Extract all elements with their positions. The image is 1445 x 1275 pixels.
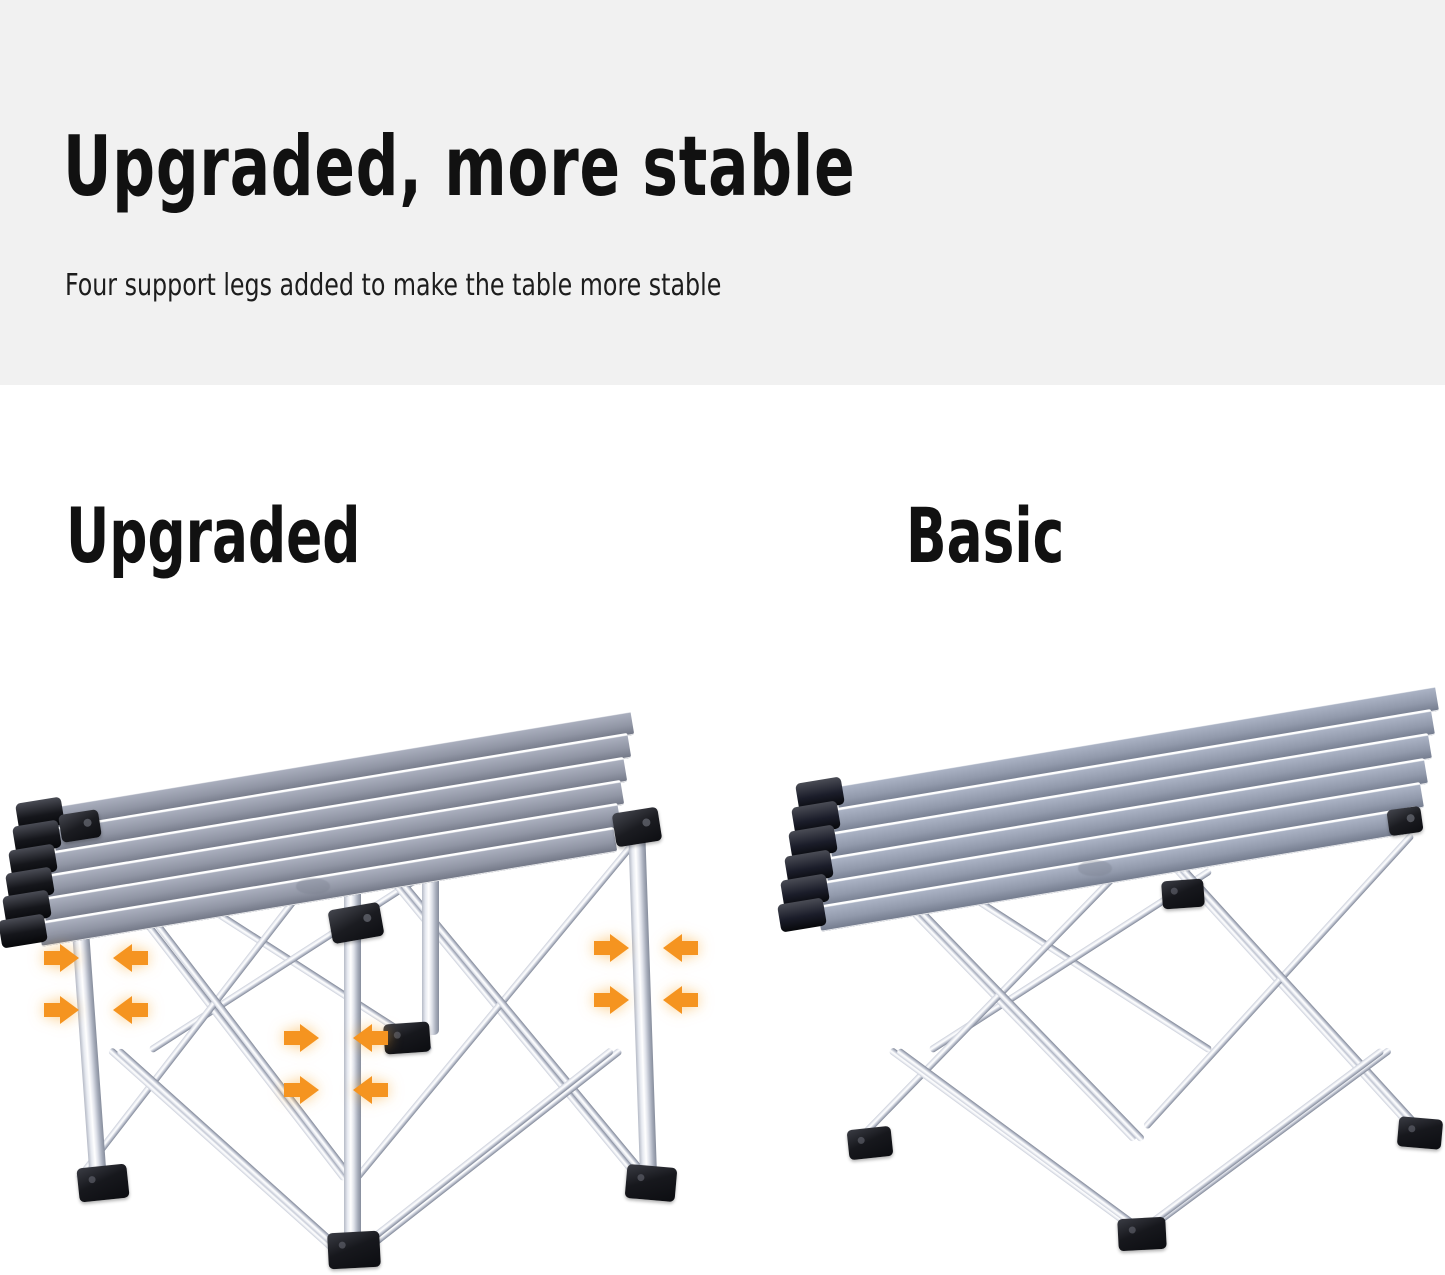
arrow-cluster-left (42, 942, 150, 1026)
pressure-arrow-icon (282, 1074, 322, 1106)
leg-foot (625, 1164, 678, 1202)
pressure-arrow-icon (282, 1022, 322, 1054)
leg-foot (1161, 879, 1205, 910)
pressure-arrow-icon (660, 932, 700, 964)
leg-foot (327, 1231, 381, 1270)
upgraded-table-illustration (0, 620, 740, 1275)
leg-foot (847, 1126, 894, 1160)
page-title: Upgraded, more stable (63, 128, 855, 207)
pressure-arrow-icon (110, 942, 150, 974)
corner-bracket (1386, 806, 1423, 836)
leg-foot (1397, 1116, 1443, 1150)
pressure-arrow-icon (660, 984, 700, 1016)
arrow-cluster-right (592, 932, 700, 1016)
pressure-arrow-icon (592, 984, 632, 1016)
label-upgraded: Upgraded (66, 500, 360, 572)
brand-logo-mark (296, 878, 330, 894)
label-basic: Basic (906, 500, 1064, 572)
product-basic (740, 620, 1445, 1275)
pressure-arrow-icon (42, 942, 82, 974)
arrow-cluster-center (282, 1022, 390, 1106)
pressure-arrow-icon (110, 994, 150, 1026)
leg-foot (1117, 1217, 1167, 1251)
header-band: Upgraded, more stable Four support legs … (0, 0, 1445, 385)
tabletop-basic (740, 620, 1445, 1275)
leg-foot (383, 1021, 431, 1054)
pressure-arrow-icon (350, 1074, 390, 1106)
page-subtitle: Four support legs added to make the tabl… (65, 268, 721, 304)
product-upgraded (0, 620, 740, 1275)
pressure-arrow-icon (592, 932, 632, 964)
pressure-arrow-icon (350, 1022, 390, 1054)
brand-logo-mark (1078, 860, 1112, 876)
corner-bracket (612, 807, 663, 848)
product-comparison-area (0, 620, 1445, 1275)
basic-table-illustration (740, 620, 1445, 1275)
pressure-arrow-icon (42, 994, 82, 1026)
leg-foot (76, 1163, 129, 1202)
